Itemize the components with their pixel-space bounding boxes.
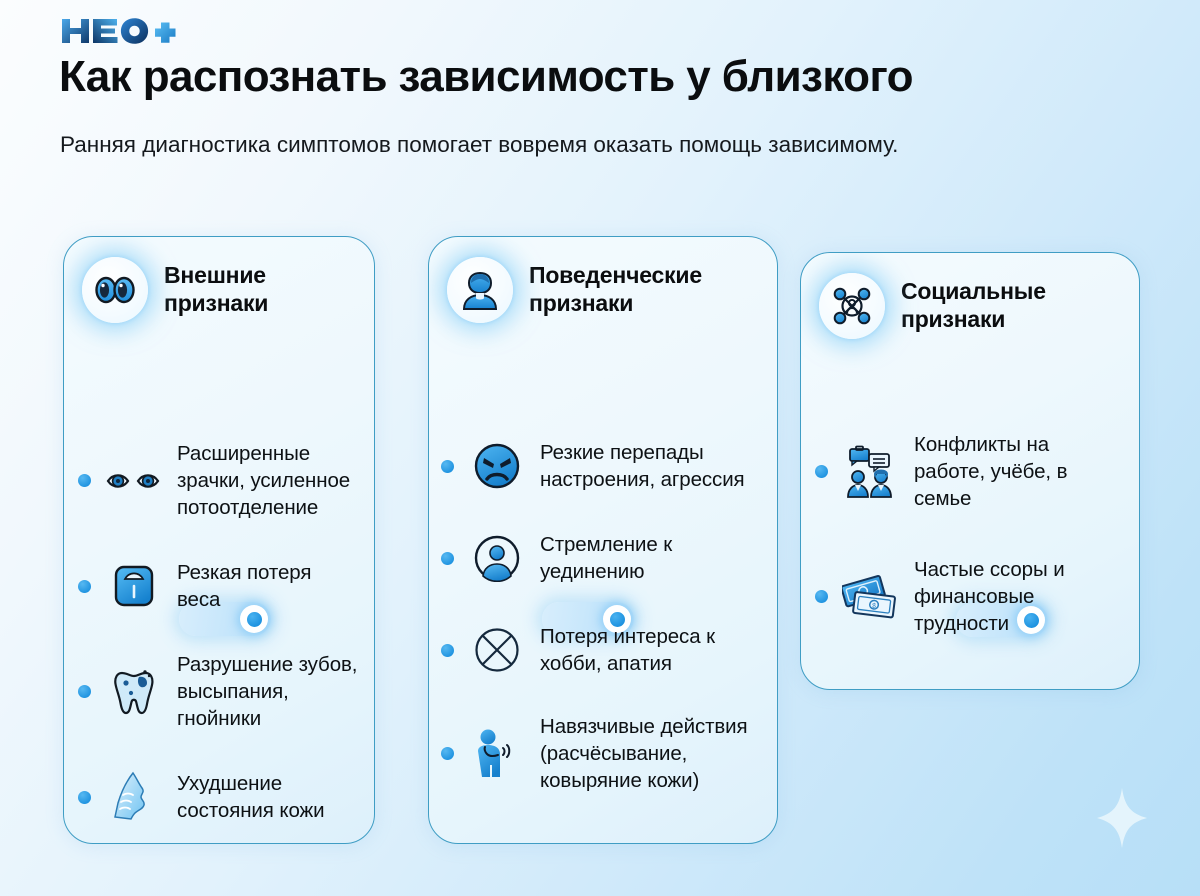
list-item-text: Навязчивые действия (расчёсывание, ковыр… (540, 713, 763, 794)
card-title-line-2: признаки (164, 290, 268, 318)
list-item: $ Частые ссоры и финансовые трудности (815, 556, 1125, 637)
person-circle-icon (466, 529, 528, 587)
damaged-tooth-icon (103, 663, 165, 721)
list-item: Расширенные зрачки, усиленное потоотделе… (78, 440, 360, 521)
network-people-icon (819, 273, 885, 339)
card-external-title: Внешние признаки (164, 262, 268, 317)
sparkle-star-icon (1096, 787, 1148, 854)
card-behavioral-signs: Поведенческие признаки (428, 236, 778, 844)
list-item: Ухудшение состояния кожи (78, 768, 360, 826)
list-item-text: Частые ссоры и финансовые трудности (914, 556, 1125, 637)
card-title-line-1: Внешние (164, 262, 268, 290)
bullet-dot (815, 465, 828, 478)
crossed-circle-icon (466, 621, 528, 679)
list-item: Потеря интереса к хобби, апатия (441, 621, 763, 679)
card-title-line-1: Поведенческие (529, 262, 702, 290)
list-item-text: Потеря интереса к хобби, апатия (540, 623, 763, 677)
card-external-signs: Внешние признаки (63, 236, 375, 844)
conflict-people-icon (840, 443, 902, 501)
list-item-text: Резкая потеря веса (177, 559, 360, 613)
list-item-text: Конфликты на работе, учёбе, в семье (914, 431, 1125, 512)
card-behavioral-list: Резкие перепады настроения, агрессия (429, 437, 777, 794)
weight-scale-icon (103, 557, 165, 615)
scratching-person-icon (466, 725, 528, 783)
bullet-dot (78, 685, 91, 698)
bullet-dot (78, 791, 91, 804)
signs-cards-container: Внешние признаки (0, 0, 1200, 896)
list-item: Конфликты на работе, учёбе, в семье (815, 431, 1125, 512)
list-item-text: Расширенные зрачки, усиленное потоотделе… (177, 440, 360, 521)
person-avatar-icon (447, 257, 513, 323)
list-item: Резкая потеря веса (78, 557, 360, 615)
list-item-text: Разрушение зубов, высыпания, гнойники (177, 651, 360, 732)
list-item: Резкие перепады настроения, агрессия (441, 437, 763, 495)
bullet-dot (815, 590, 828, 603)
list-item-text: Резкие перепады настроения, агрессия (540, 439, 763, 493)
list-item-text: Ухудшение состояния кожи (177, 770, 360, 824)
card-social-signs: Социальные признаки (800, 252, 1140, 690)
card-social-list: Конфликты на работе, учёбе, в семье (801, 431, 1139, 637)
list-item: Навязчивые действия (расчёсывание, ковыр… (441, 713, 763, 794)
banknotes-icon: $ (840, 568, 902, 626)
bullet-dot (441, 644, 454, 657)
card-social-header: Социальные признаки (801, 253, 1139, 339)
card-behavioral-header: Поведенческие признаки (429, 237, 777, 323)
bullet-dot (78, 474, 91, 487)
list-item-text: Стремление к уединению (540, 531, 763, 585)
bullet-dot (78, 580, 91, 593)
card-external-header: Внешние признаки (64, 237, 374, 323)
list-item: Разрушение зубов, высыпания, гнойники (78, 651, 360, 732)
card-social-title: Социальные признаки (901, 278, 1046, 333)
bullet-dot (441, 747, 454, 760)
bullet-dot (441, 460, 454, 473)
list-item: Стремление к уединению (441, 529, 763, 587)
card-title-line-1: Социальные (901, 278, 1046, 306)
face-skin-icon (103, 768, 165, 826)
card-external-list: Расширенные зрачки, усиленное потоотделе… (64, 440, 374, 826)
eyes-icon (82, 257, 148, 323)
dilated-pupils-icon (103, 452, 165, 510)
card-title-line-2: признаки (529, 290, 702, 318)
card-title-line-2: признаки (901, 306, 1046, 334)
bullet-dot (441, 552, 454, 565)
angry-face-icon (466, 437, 528, 495)
card-behavioral-title: Поведенческие признаки (529, 262, 702, 317)
